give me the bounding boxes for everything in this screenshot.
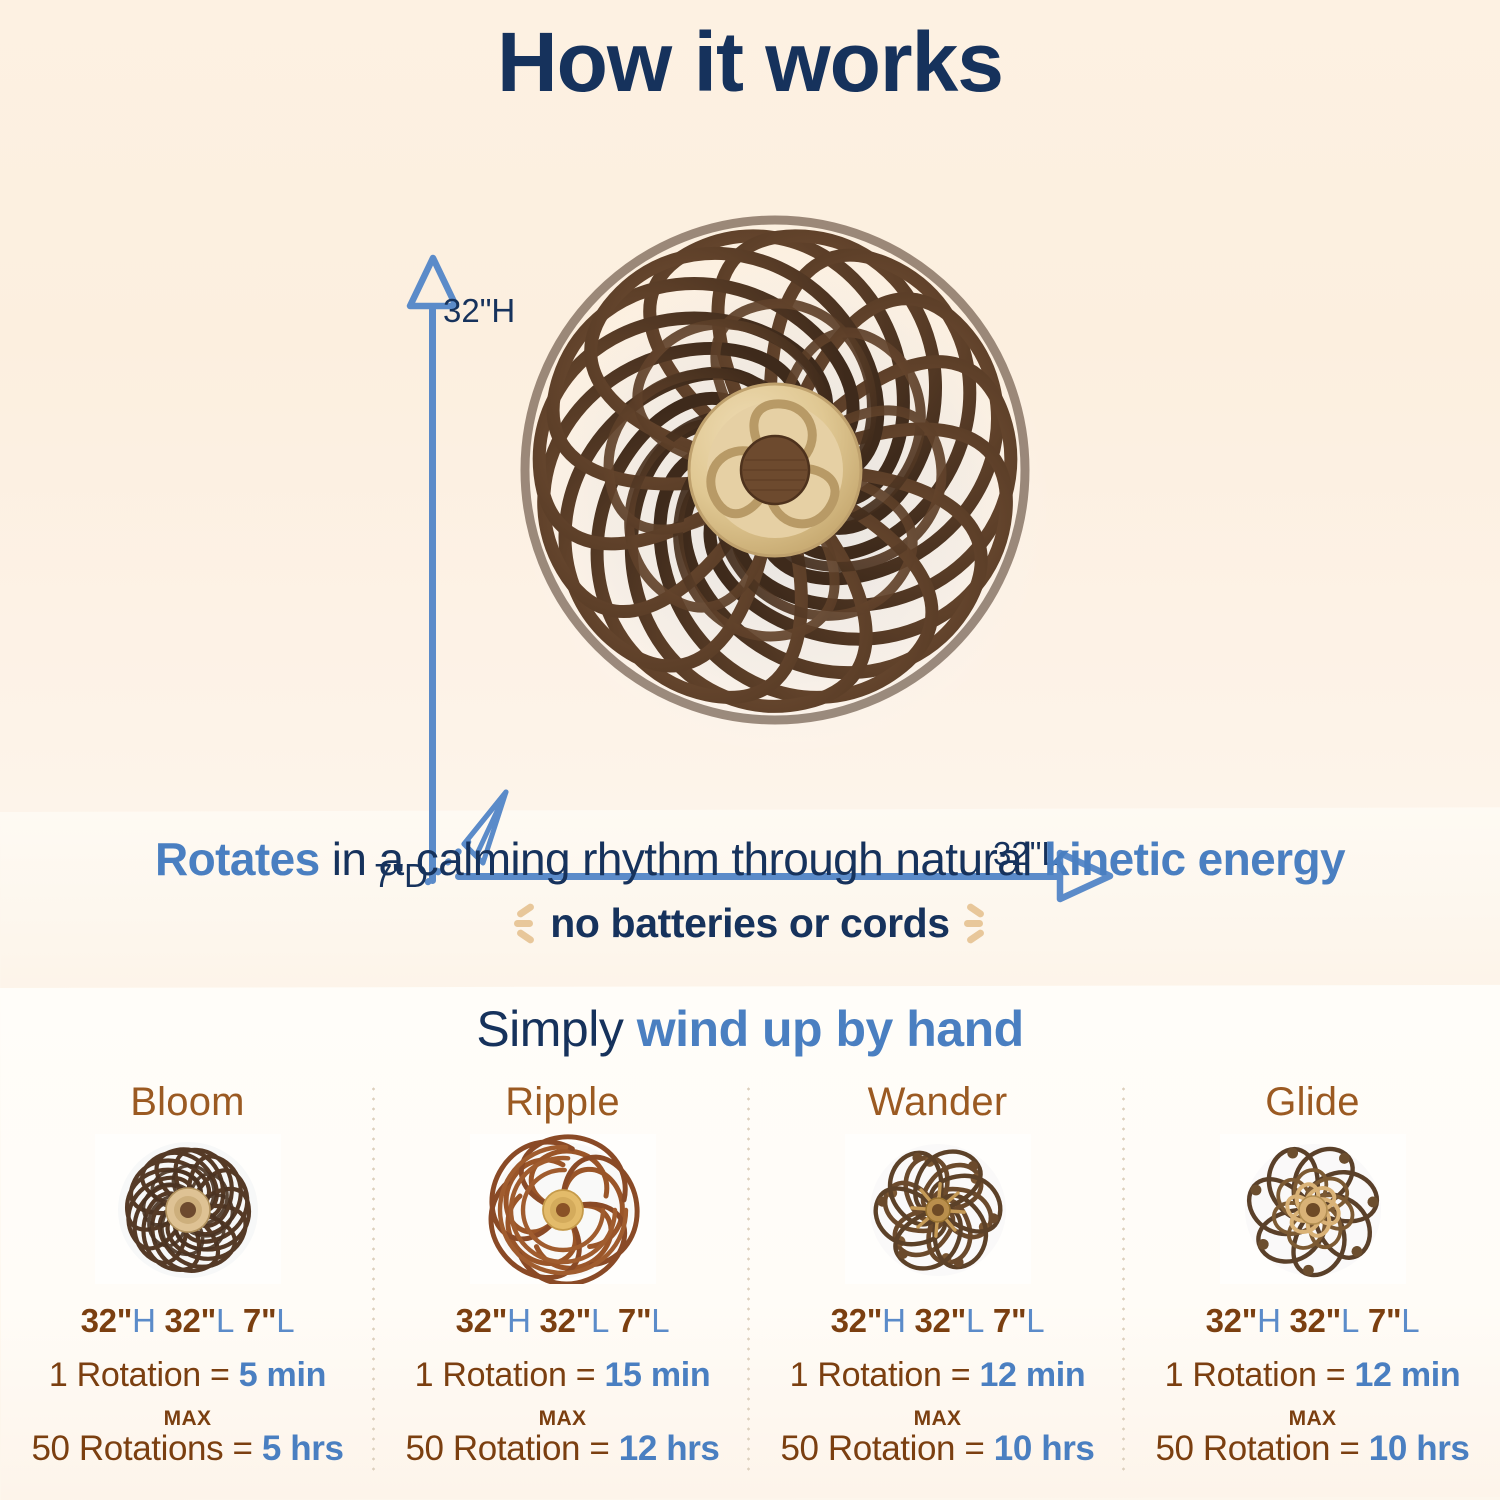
product-name: Glide xyxy=(1265,1082,1359,1122)
rotation-value: 12 min xyxy=(979,1356,1085,1394)
dim-height-value: 32" xyxy=(1206,1302,1257,1339)
total-label: 50 Rotations = xyxy=(31,1429,261,1468)
dim-height-value: 32" xyxy=(456,1302,507,1339)
dim-depth-value: 7" xyxy=(243,1302,276,1339)
product-grid: Bloom xyxy=(0,1078,1500,1488)
tagline: Rotates in a calming rhythm through natu… xyxy=(0,832,1500,886)
product-total-spec: 50 Rotation = 12 hrs xyxy=(405,1429,719,1469)
total-value: 5 hrs xyxy=(262,1429,344,1468)
dim-height-value: 32" xyxy=(81,1302,132,1339)
windup-heading: Simply wind up by hand xyxy=(0,1000,1500,1058)
sub-tagline: no batteries or cords xyxy=(0,898,1500,948)
dim-length-unit: L xyxy=(591,1302,609,1339)
total-value: 12 hrs xyxy=(619,1429,720,1468)
total-label: 50 Rotation = xyxy=(780,1429,993,1468)
dim-depth-unit: L xyxy=(276,1302,294,1339)
max-label: MAX xyxy=(914,1407,962,1431)
dim-height-value: 32" xyxy=(831,1302,882,1339)
max-label: MAX xyxy=(1289,1407,1337,1431)
product-total-spec: 50 Rotation = 10 hrs xyxy=(1155,1429,1469,1469)
dim-depth-value: 7" xyxy=(618,1302,651,1339)
dim-length-value: 32" xyxy=(540,1302,591,1339)
product-thumbnail-glide xyxy=(1220,1134,1406,1284)
product-name: Ripple xyxy=(505,1082,620,1122)
product-card-ripple[interactable]: Ripple xyxy=(375,1078,750,1488)
dim-depth-value: 7" xyxy=(1368,1302,1401,1339)
product-card-glide[interactable]: Glide xyxy=(1125,1078,1500,1488)
dim-depth-unit: L xyxy=(1401,1302,1419,1339)
infographic-page: How it works 32"H 32"L 7"D xyxy=(0,0,1500,1500)
sub-tagline-text: no batteries or cords xyxy=(550,900,949,947)
total-value: 10 hrs xyxy=(1369,1429,1470,1468)
product-rotation-spec: 1 Rotation = 5 min xyxy=(49,1356,326,1395)
hero-product-image xyxy=(455,150,1095,790)
product-total-spec: 50 Rotation = 10 hrs xyxy=(780,1429,1094,1469)
total-value: 10 hrs xyxy=(994,1429,1095,1468)
dim-length-unit: L xyxy=(1341,1302,1359,1339)
rotation-value: 12 min xyxy=(1354,1356,1460,1394)
dim-depth-unit: L xyxy=(1026,1302,1044,1339)
rotation-label: 1 Rotation = xyxy=(415,1356,605,1394)
dim-depth-unit: L xyxy=(651,1302,669,1339)
product-name: Bloom xyxy=(130,1082,244,1122)
dim-height-unit: H xyxy=(882,1302,906,1339)
product-name: Wander xyxy=(868,1082,1008,1122)
product-thumbnail-bloom xyxy=(95,1134,281,1284)
tagline-word-rotates: Rotates xyxy=(155,833,320,885)
product-rotation-spec: 1 Rotation = 15 min xyxy=(415,1356,711,1395)
page-title: How it works xyxy=(0,14,1500,111)
product-rotation-spec: 1 Rotation = 12 min xyxy=(790,1356,1086,1395)
product-dimensions: 32"H 32"L 7"L xyxy=(81,1302,295,1340)
hero-diagram: 32"H 32"L 7"D xyxy=(0,110,1500,810)
tagline-middle: in a calming rhythm through natural xyxy=(320,833,1044,885)
max-label: MAX xyxy=(164,1407,212,1431)
dim-length-unit: L xyxy=(966,1302,984,1339)
product-card-bloom[interactable]: Bloom xyxy=(0,1078,375,1488)
product-dimensions: 32"H 32"L 7"L xyxy=(456,1302,670,1340)
dim-height-unit: H xyxy=(1257,1302,1281,1339)
dim-height-unit: H xyxy=(132,1302,156,1339)
total-label: 50 Rotation = xyxy=(1155,1429,1368,1468)
max-label: MAX xyxy=(539,1407,587,1431)
rotation-label: 1 Rotation = xyxy=(790,1356,980,1394)
product-dimensions: 32"H 32"L 7"L xyxy=(831,1302,1045,1340)
dim-length-value: 32" xyxy=(165,1302,216,1339)
product-card-wander[interactable]: Wander xyxy=(750,1078,1125,1488)
dim-length-value: 32" xyxy=(915,1302,966,1339)
product-dimensions: 32"H 32"L 7"L xyxy=(1206,1302,1420,1340)
windup-prefix: Simply xyxy=(476,1001,636,1057)
product-total-spec: 50 Rotations = 5 hrs xyxy=(31,1429,343,1469)
dim-depth-value: 7" xyxy=(993,1302,1026,1339)
sparkle-left-icon xyxy=(514,898,536,948)
tagline-word-kinetic: kinetic energy xyxy=(1044,833,1345,885)
rotation-label: 1 Rotation = xyxy=(1165,1356,1355,1394)
dim-length-value: 32" xyxy=(1290,1302,1341,1339)
dim-height-unit: H xyxy=(507,1302,531,1339)
sparkle-right-icon xyxy=(964,898,986,948)
rotation-label: 1 Rotation = xyxy=(49,1356,239,1394)
rotation-value: 5 min xyxy=(239,1356,326,1394)
product-thumbnail-ripple xyxy=(470,1134,656,1284)
total-label: 50 Rotation = xyxy=(405,1429,618,1468)
rotation-value: 15 min xyxy=(604,1356,710,1394)
product-thumbnail-wander xyxy=(845,1134,1031,1284)
windup-accent: wind up by hand xyxy=(637,1001,1024,1057)
dim-length-unit: L xyxy=(216,1302,234,1339)
product-rotation-spec: 1 Rotation = 12 min xyxy=(1165,1356,1461,1395)
